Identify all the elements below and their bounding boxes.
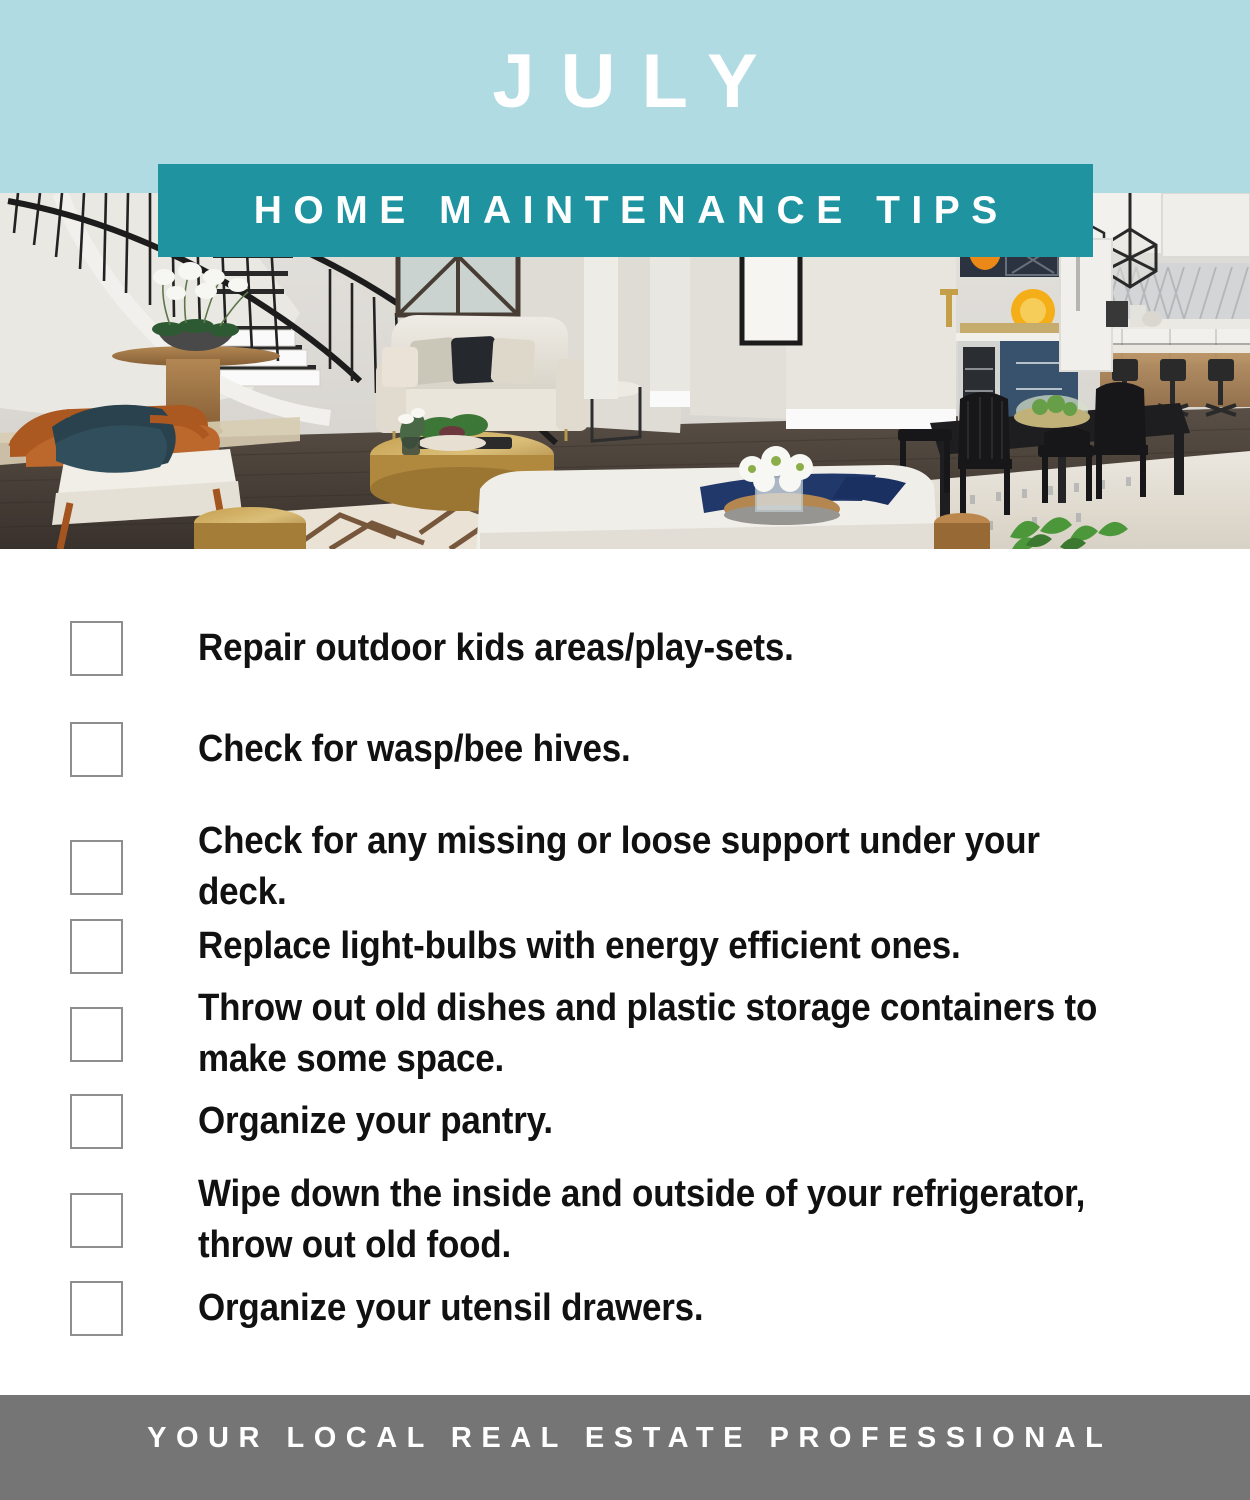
checklist-label-8: Organize your utensil drawers.: [198, 1283, 1100, 1334]
checklist-label-4: Replace light-bulbs with energy efficien…: [198, 921, 1100, 972]
checkbox-item-8[interactable]: [70, 1281, 123, 1336]
page-title-month: JULY: [0, 44, 1250, 120]
checklist-label-6: Organize your pantry.: [198, 1096, 1100, 1147]
banner-home-maintenance-tips: HOME MAINTENANCE TIPS: [158, 164, 1093, 257]
footer-band: YOUR LOCAL REAL ESTATE PROFESSIONAL: [0, 1395, 1250, 1500]
checkbox-item-4[interactable]: [70, 919, 123, 974]
checkbox-item-2[interactable]: [70, 722, 123, 777]
checkbox-item-1[interactable]: [70, 621, 123, 676]
checkbox-item-7[interactable]: [70, 1193, 123, 1248]
checklist-label-7: Wipe down the inside and outside of your…: [198, 1169, 1100, 1271]
banner-title: HOME MAINTENANCE TIPS: [242, 191, 1009, 230]
checkbox-item-3[interactable]: [70, 840, 123, 895]
checklist-section: Repair outdoor kids areas/play-sets. Che…: [0, 549, 1250, 1395]
checklist-label-1: Repair outdoor kids areas/play-sets.: [198, 623, 1100, 674]
footer-tagline: YOUR LOCAL REAL ESTATE PROFESSIONAL: [0, 1424, 1250, 1453]
checklist-label-5: Throw out old dishes and plastic storage…: [198, 983, 1100, 1085]
poster-root: JULY: [0, 0, 1250, 1500]
checklist-label-2: Check for wasp/bee hives.: [198, 724, 1100, 775]
checklist-label-3: Check for any missing or loose support u…: [198, 816, 1100, 918]
checkbox-item-5[interactable]: [70, 1007, 123, 1062]
checkbox-item-6[interactable]: [70, 1094, 123, 1149]
